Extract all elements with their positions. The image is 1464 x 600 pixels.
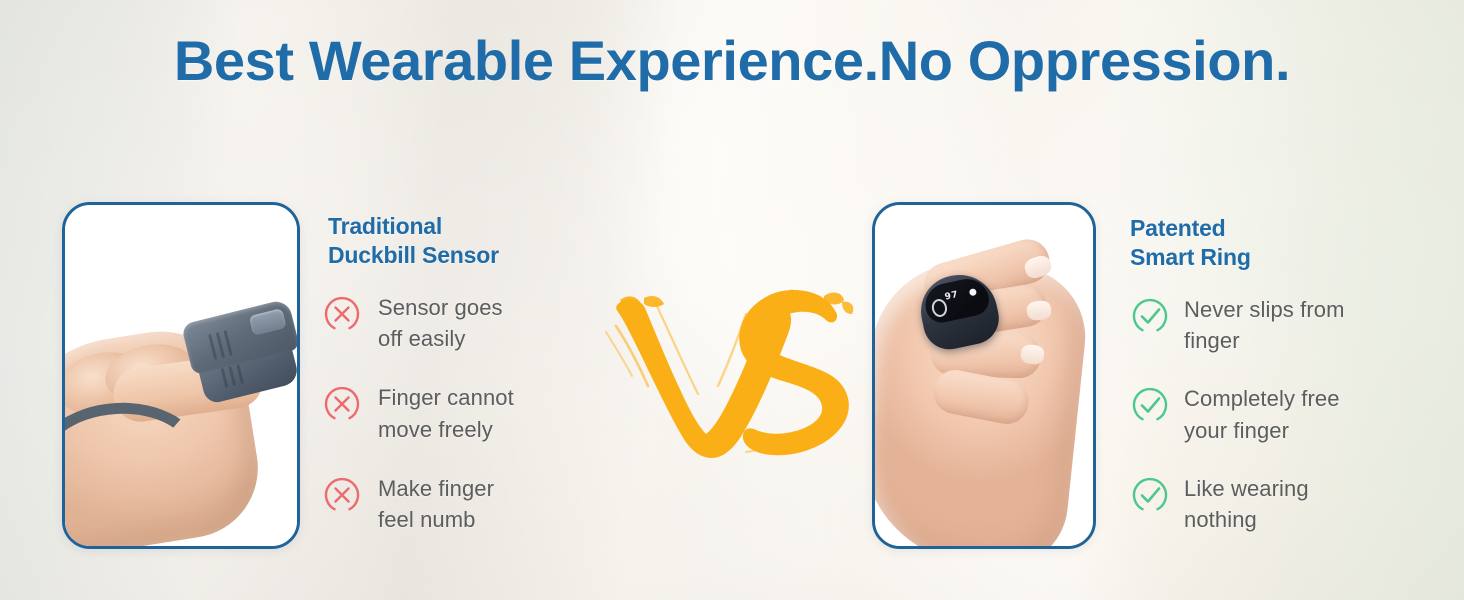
- page-title: Best Wearable Experience.No Oppression.: [0, 30, 1464, 93]
- list-item-label: Sensor goes off easily: [378, 292, 503, 354]
- check-circle-icon: [1130, 475, 1170, 515]
- list-item-label: Like wearing nothing: [1184, 473, 1309, 535]
- right-column-title: Patented Smart Ring: [1130, 214, 1251, 273]
- check-circle-icon: [1130, 385, 1170, 425]
- list-item: Sensor goes off easily: [322, 292, 514, 354]
- comparison-row: Traditional Duckbill Sensor Sensor goes …: [0, 186, 1464, 566]
- duckbill-sensor-photo: [65, 205, 297, 546]
- list-item: Like wearing nothing: [1130, 473, 1345, 535]
- list-item: Never slips from finger: [1130, 294, 1345, 356]
- list-item: Make finger feel numb: [322, 473, 514, 535]
- traditional-sensor-card: [62, 202, 300, 549]
- left-bullet-list: Sensor goes off easily Finger cannot mov…: [322, 292, 514, 563]
- left-column-title: Traditional Duckbill Sensor: [328, 212, 499, 271]
- cross-circle-icon: [322, 475, 362, 515]
- smart-ring-card: 97: [872, 202, 1096, 549]
- fingernail-icon: [1020, 344, 1045, 365]
- right-bullet-list: Never slips from finger Completely free …: [1130, 294, 1345, 562]
- smart-ring-photo: 97: [875, 205, 1093, 546]
- list-item-label: Never slips from finger: [1184, 294, 1345, 356]
- list-item-label: Finger cannot move freely: [378, 382, 514, 444]
- list-item: Finger cannot move freely: [322, 382, 514, 444]
- promo-banner: Best Wearable Experience.No Oppression.: [0, 0, 1464, 600]
- list-item-label: Completely free your finger: [1184, 383, 1340, 445]
- cross-circle-icon: [322, 294, 362, 334]
- cross-circle-icon: [322, 384, 362, 424]
- list-item-label: Make finger feel numb: [378, 473, 494, 535]
- check-circle-icon: [1130, 296, 1170, 336]
- list-item: Completely free your finger: [1130, 383, 1345, 445]
- duckbill-clip-icon: [174, 292, 297, 410]
- vs-badge: [596, 282, 876, 472]
